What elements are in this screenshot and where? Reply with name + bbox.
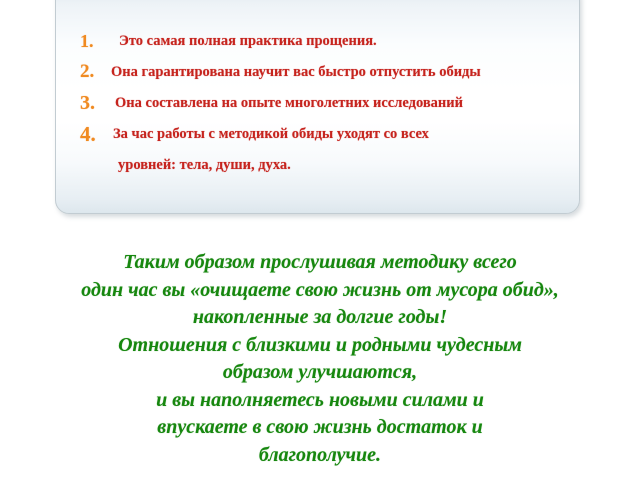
- closing-statement-line: Отношения с близкими и родными чудесным: [0, 332, 640, 360]
- benefits-box: 1. Это самая полная практика прощения. 2…: [55, 0, 580, 214]
- list-item-text-continued: уровней: тела, души, духа.: [113, 155, 429, 175]
- closing-statement-line: один час вы «очищаете свою жизнь от мусо…: [0, 277, 640, 305]
- closing-statement-line: накопленные за долгие годы!: [0, 304, 640, 332]
- list-item-number: 3.: [76, 93, 110, 113]
- list-item-number: 2.: [76, 62, 110, 82]
- closing-statement-line: и вы наполняетесь новыми силами и: [0, 387, 640, 415]
- list-item-number: 4.: [76, 124, 110, 144]
- closing-statement-line: впускаете в свою жизнь достаток и: [0, 414, 640, 442]
- list-item: 2. Она гарантирована научит вас быстро о…: [76, 62, 579, 82]
- list-item-text-wrap: За час работы с методикой обиды уходят с…: [110, 124, 429, 175]
- list-item: 3. Она составлена на опыте многолетних и…: [76, 93, 579, 113]
- closing-statement-line: Таким образом прослушивая методику всего: [0, 249, 640, 277]
- list-item: 4. За час работы с методикой обиды уходя…: [76, 124, 579, 175]
- list-item-number: 1.: [76, 31, 110, 51]
- list-item-text: Она составлена на опыте многолетних иссл…: [110, 93, 463, 113]
- list-item-text: Это самая полная практика прощения.: [110, 31, 377, 51]
- closing-statement-line: образом улучшаются,: [0, 359, 640, 387]
- list-item-text: За час работы с методикой обиды уходят с…: [113, 126, 429, 142]
- closing-statement-line: благополучие.: [0, 442, 640, 470]
- benefits-list: 1. Это самая полная практика прощения. 2…: [76, 31, 579, 186]
- list-item-text: Она гарантирована научит вас быстро отпу…: [110, 62, 481, 82]
- closing-statement: Таким образом прослушивая методику всего…: [0, 249, 640, 469]
- list-item: 1. Это самая полная практика прощения.: [76, 31, 579, 51]
